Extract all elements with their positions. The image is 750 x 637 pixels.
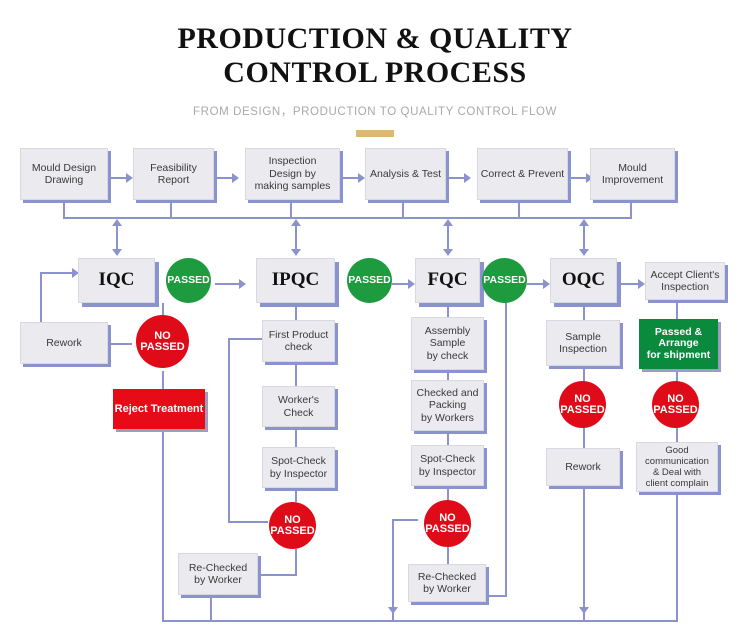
title-accent-rule — [356, 130, 394, 137]
stub-design-6 — [630, 200, 632, 218]
node-ipqc-workers-check[interactable]: Worker's Check — [262, 386, 335, 427]
arrow-line-passed1-ipqc — [215, 283, 239, 285]
node-accept-client-inspection[interactable]: Accept Client's Inspection — [645, 262, 725, 300]
line-recheck-fqc-right — [485, 595, 507, 597]
nopassed-badge-shipment: NO PASSED — [652, 381, 699, 428]
biarrow-head-down-ipqc — [291, 249, 301, 256]
biarrow-line-oqc — [583, 226, 585, 250]
nopassed-badge-oqc: NO PASSED — [559, 381, 606, 428]
line-nopass-ipqc-down — [295, 549, 297, 575]
arrow-head-passed2-fqc — [408, 279, 415, 289]
line-nopass-reject — [162, 371, 164, 389]
node-fqc-spot-check[interactable]: Spot-Check by Inspector — [411, 445, 484, 486]
node-ipqc-rechecked-by-worker[interactable]: Re-Checked by Worker — [178, 553, 258, 595]
arrow-line-nopass-rework — [108, 343, 132, 345]
node-fqc-checked-packing[interactable]: Checked and Packing by Workers — [411, 380, 484, 431]
line-nopass-fqc-down — [447, 547, 449, 564]
arrow-line-design-3-4 — [340, 177, 358, 179]
arrow-line-design-2-3 — [214, 177, 232, 179]
arrow-head-design-2-3 — [232, 173, 239, 183]
line-fqc-to-assembly — [447, 303, 449, 317]
node-oqc-rework[interactable]: Rework — [546, 448, 620, 486]
design-node-analysis-test[interactable]: Analysis & Test — [365, 148, 446, 200]
arrow-line-oqc-accept — [618, 283, 638, 285]
passed-badge-2: PASSED — [347, 258, 392, 303]
line-ipqc-return-right — [228, 338, 262, 340]
arrow-head-design-3-4 — [358, 173, 365, 183]
node-client-complain-handling[interactable]: Good communication & Deal with client co… — [636, 442, 718, 492]
line-ipqc-return-up — [228, 338, 230, 523]
line-complain-down — [676, 491, 678, 621]
arrow-line-passed3-oqc — [527, 283, 543, 285]
qc-stage-iqc[interactable]: IQC — [78, 258, 155, 303]
page-subtitle: FROM DESIGN，PRODUCTION TO QUALITY CONTRO… — [0, 103, 750, 119]
bottom-return-bus — [162, 620, 678, 622]
arrow-head-passed1-ipqc — [239, 279, 246, 289]
design-node-mould-design-drawing[interactable]: Mould Design Drawing — [20, 148, 108, 200]
line-nopass-ipqc-left — [228, 521, 268, 523]
biarrow-line-iqc — [116, 226, 118, 250]
arrow-head-design-4-5 — [464, 173, 471, 183]
line-fqc-branch-left — [392, 519, 418, 521]
line-spot-to-nopass-fqc — [447, 486, 449, 500]
qc-stage-fqc[interactable]: FQC — [415, 258, 480, 303]
nopassed-badge-ipqc: NO PASSED — [269, 502, 316, 549]
node-passed-arrange-shipment[interactable]: Passed & Arrange for shipment — [639, 319, 718, 369]
line-assembly-to-checked — [447, 370, 449, 380]
stub-design-1 — [63, 200, 65, 218]
design-node-feasibility-report[interactable]: Feasibility Report — [133, 148, 214, 200]
biarrow-head-up-iqc — [112, 219, 122, 226]
line-accept-to-shipment — [676, 303, 678, 319]
line-ipqc-to-first-product — [295, 303, 297, 320]
arrow-head-oqc-rework-down — [579, 607, 589, 614]
arrow-line-design-1-2 — [108, 177, 126, 179]
line-spot-to-nopass-ipqc — [295, 488, 297, 502]
design-node-mould-improvement[interactable]: Mould Improvement — [590, 148, 675, 200]
nopassed-badge-fqc: NO PASSED — [424, 500, 471, 547]
arrow-head-fqc-branch-down — [388, 607, 398, 614]
page-header: PRODUCTION & QUALITY CONTROL PROCESS FRO… — [0, 0, 750, 137]
arrow-line-passed2-fqc — [392, 283, 408, 285]
passed-badge-3: PASSED — [482, 258, 527, 303]
line-rework-right-iqc — [40, 272, 72, 274]
line-checked-to-spot — [447, 431, 449, 445]
line-reject-to-bottom-bus — [162, 429, 164, 621]
node-ipqc-first-product-check[interactable]: First Product check — [262, 320, 335, 362]
biarrow-line-ipqc — [295, 226, 297, 250]
stub-design-3 — [290, 200, 292, 218]
stub-design-5 — [518, 200, 520, 218]
line-nopass-ipqc-to-recheck — [258, 574, 297, 576]
line-worker-to-spot — [295, 427, 297, 447]
line-recheck-fqc-up — [505, 300, 507, 596]
line-oqc-to-sample — [583, 303, 585, 320]
biarrow-head-up-fqc — [443, 219, 453, 226]
biarrow-head-down-iqc — [112, 249, 122, 256]
biarrow-head-up-ipqc — [291, 219, 301, 226]
arrow-head-design-1-2 — [126, 173, 133, 183]
node-reject-treatment[interactable]: Reject Treatment — [113, 389, 205, 429]
line-sample-to-nopass-oqc — [583, 366, 585, 382]
page-title: PRODUCTION & QUALITY CONTROL PROCESS — [0, 22, 750, 90]
qc-stage-oqc[interactable]: OQC — [550, 258, 617, 303]
qc-stage-ipqc[interactable]: IPQC — [256, 258, 335, 303]
design-to-qc-bus — [63, 217, 632, 219]
line-first-to-worker — [295, 362, 297, 386]
biarrow-head-up-oqc — [579, 219, 589, 226]
node-fqc-assembly-sample[interactable]: Assembly Sample by check — [411, 317, 484, 370]
node-fqc-rechecked-by-worker[interactable]: Re-Checked by Worker — [408, 564, 486, 602]
line-fqc-branch-down — [392, 519, 394, 621]
design-node-correct-prevent[interactable]: Correct & Prevent — [477, 148, 568, 200]
design-node-inspection-design[interactable]: Inspection Design by making samples — [245, 148, 340, 200]
passed-badge-1: PASSED — [166, 258, 211, 303]
nopassed-badge-iqc: NO PASSED — [136, 315, 189, 368]
arrow-head-passed3-oqc — [543, 279, 550, 289]
line-recheck-ipqc-down — [210, 595, 212, 621]
node-oqc-sample-inspection[interactable]: Sample Inspection — [546, 320, 620, 366]
arrow-line-design-5-6 — [568, 177, 586, 179]
biarrow-head-down-fqc — [443, 249, 453, 256]
line-iqc-to-nopass — [162, 303, 164, 315]
line-oqc-rework-down — [583, 483, 585, 621]
node-ipqc-spot-check[interactable]: Spot-Check by Inspector — [262, 447, 335, 488]
stub-design-4 — [402, 200, 404, 218]
stub-design-2 — [170, 200, 172, 218]
biarrow-line-fqc — [447, 226, 449, 250]
arrow-line-design-4-5 — [446, 177, 464, 179]
biarrow-head-down-oqc — [579, 249, 589, 256]
arrow-head-oqc-accept — [638, 279, 645, 289]
line-rework-up-iqc — [40, 272, 42, 322]
node-iqc-rework[interactable]: Rework — [20, 322, 108, 364]
